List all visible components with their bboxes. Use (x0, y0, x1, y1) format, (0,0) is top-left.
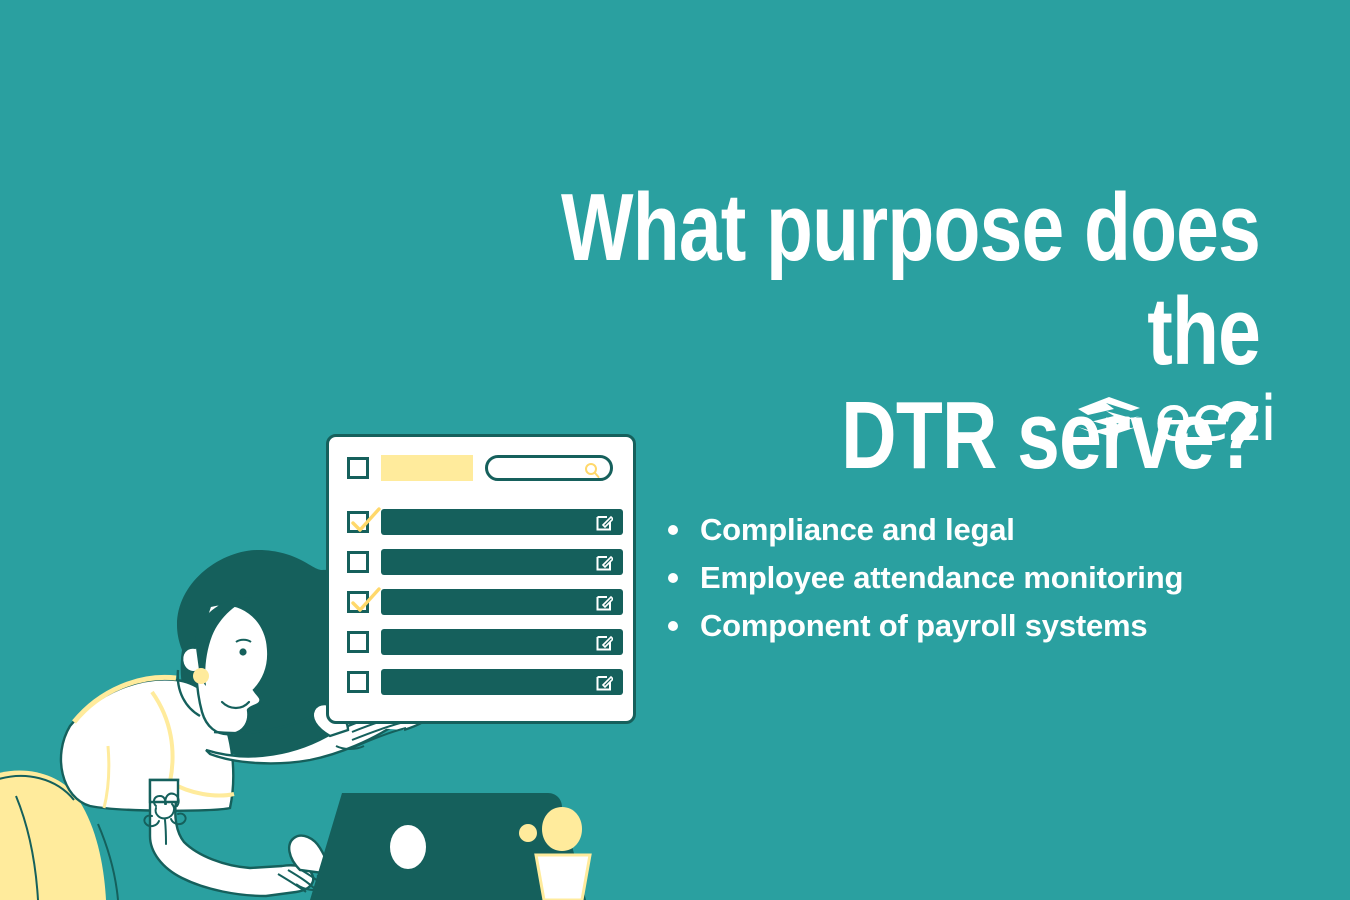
checklist-card (326, 434, 636, 724)
bullet-dot-icon (668, 621, 678, 631)
checklist-rows (347, 509, 623, 709)
list-item: Compliance and legal (660, 506, 1300, 554)
laptop-logo (390, 825, 426, 869)
card-header (347, 453, 623, 483)
list-item-label: Employee attendance monitoring (700, 560, 1183, 595)
edit-icon[interactable] (596, 514, 613, 531)
header-checkbox[interactable] (347, 457, 369, 479)
list-item: Employee attendance monitoring (660, 554, 1300, 602)
row-checkbox[interactable] (347, 631, 369, 653)
cup (536, 855, 590, 900)
row-label-bar (381, 509, 623, 535)
edit-icon[interactable] (596, 554, 613, 571)
checkmark-icon (349, 587, 383, 617)
slide-canvas: What purpose does the DTR serve? eezi Co… (0, 0, 1350, 900)
checklist-row[interactable] (347, 549, 623, 575)
row-checkbox[interactable] (347, 671, 369, 693)
row-label-bar (381, 549, 623, 575)
bullet-dot-icon (668, 573, 678, 583)
checklist-row[interactable] (347, 629, 623, 655)
list-item-label: Component of payroll systems (700, 608, 1147, 643)
checklist-row[interactable] (347, 669, 623, 695)
brand-logo: eezi (1076, 388, 1276, 450)
bullet-list: Compliance and legal Employee attendance… (660, 506, 1300, 650)
checkmark-icon (349, 507, 383, 537)
plant-bud-large (542, 807, 582, 851)
row-checkbox-checked[interactable] (347, 591, 369, 613)
list-item: Component of payroll systems (660, 602, 1300, 650)
edit-icon[interactable] (596, 634, 613, 651)
brand-name: eezi (1154, 388, 1276, 450)
row-checkbox-checked[interactable] (347, 511, 369, 533)
edit-icon[interactable] (596, 674, 613, 691)
checklist-row[interactable] (347, 509, 623, 535)
search-input[interactable] (485, 455, 613, 481)
row-label-bar (381, 629, 623, 655)
edit-icon[interactable] (596, 594, 613, 611)
list-item-label: Compliance and legal (700, 512, 1015, 547)
bullet-dot-icon (668, 525, 678, 535)
stacked-layers-icon (1076, 395, 1142, 443)
header-title-placeholder (381, 455, 473, 481)
search-icon (584, 462, 600, 480)
row-label-bar (381, 669, 623, 695)
row-checkbox[interactable] (347, 551, 369, 573)
checklist-row[interactable] (347, 589, 623, 615)
desk-items (300, 785, 600, 900)
row-label-bar (381, 589, 623, 615)
plant-bud-small (519, 824, 537, 842)
